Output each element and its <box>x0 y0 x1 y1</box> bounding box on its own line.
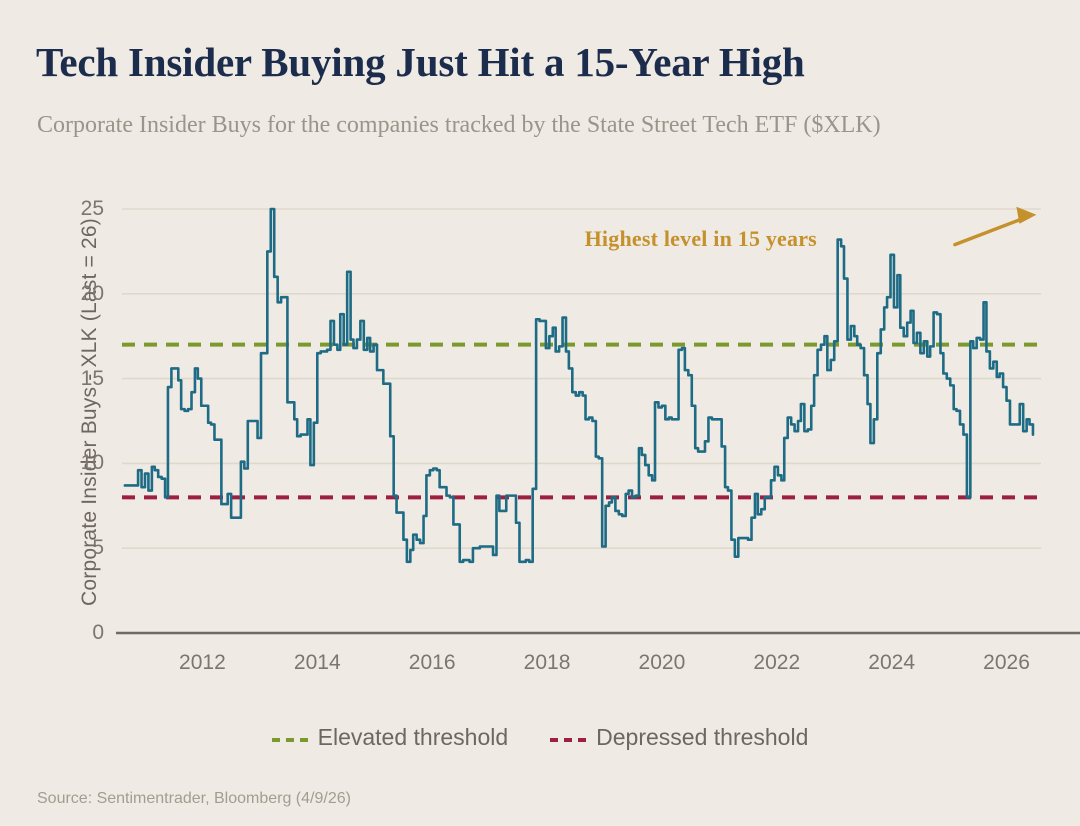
x-axis-tick: 2018 <box>524 651 571 675</box>
annotation-arrow-head <box>1016 207 1036 224</box>
y-axis-tick: 0 <box>60 621 104 645</box>
source-note: Source: Sentimentrader, Bloomberg (4/9/2… <box>37 790 351 808</box>
x-axis-tick: 2024 <box>868 651 915 675</box>
y-axis-tick: 10 <box>60 451 104 475</box>
y-axis-tick: 20 <box>60 282 104 306</box>
y-axis-tick: 25 <box>60 197 104 221</box>
x-axis-tick: 2012 <box>179 651 226 675</box>
chart-annotation: Highest level in 15 years <box>585 226 817 252</box>
x-axis-tick: 2014 <box>294 651 341 675</box>
x-axis-tick: 2016 <box>409 651 456 675</box>
page-title: Tech Insider Buying Just Hit a 15-Year H… <box>36 38 805 86</box>
reference-lines <box>122 345 1041 498</box>
gridlines <box>122 209 1041 548</box>
chart-page: Tech Insider Buying Just Hit a 15-Year H… <box>0 0 1080 826</box>
chart-legend: Elevated threshold Depressed threshold <box>0 724 1080 751</box>
y-axis-title: Corporate Insider Buys - XLK (Last = 26) <box>78 182 102 642</box>
y-axis-tick: 5 <box>60 536 104 560</box>
legend-label-elevated: Elevated threshold <box>318 724 509 751</box>
legend-item-elevated[interactable]: Elevated threshold <box>272 724 509 751</box>
annotation-arrow-shaft <box>955 219 1023 245</box>
legend-label-depressed: Depressed threshold <box>596 724 808 751</box>
x-axis-tick: 2020 <box>639 651 686 675</box>
x-axis-tick: 2022 <box>753 651 800 675</box>
y-axis-tick: 15 <box>60 367 104 391</box>
x-axis-tick: 2026 <box>983 651 1030 675</box>
series-line <box>125 209 1033 562</box>
legend-item-depressed[interactable]: Depressed threshold <box>550 724 808 751</box>
page-subtitle: Corporate Insider Buys for the companies… <box>37 112 881 139</box>
